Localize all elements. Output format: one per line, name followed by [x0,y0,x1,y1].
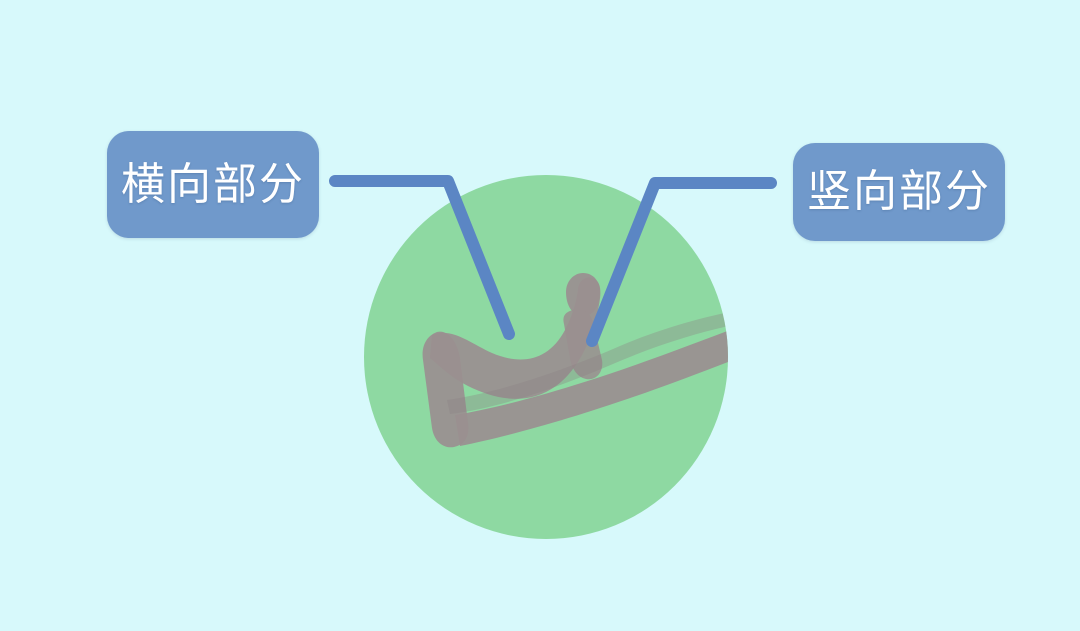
anatomy-figure [0,0,1080,631]
callout-badge-vertical-part[interactable]: 竖向部分 [793,143,1005,241]
callout-label-horizontal-part: 横向部分 [121,163,305,207]
illustration-canvas: 横向部分 竖向部分 [0,0,1080,631]
callout-badge-horizontal-part[interactable]: 横向部分 [107,131,319,238]
callout-label-vertical-part: 竖向部分 [807,170,991,214]
apex-nub-shape [566,273,600,316]
